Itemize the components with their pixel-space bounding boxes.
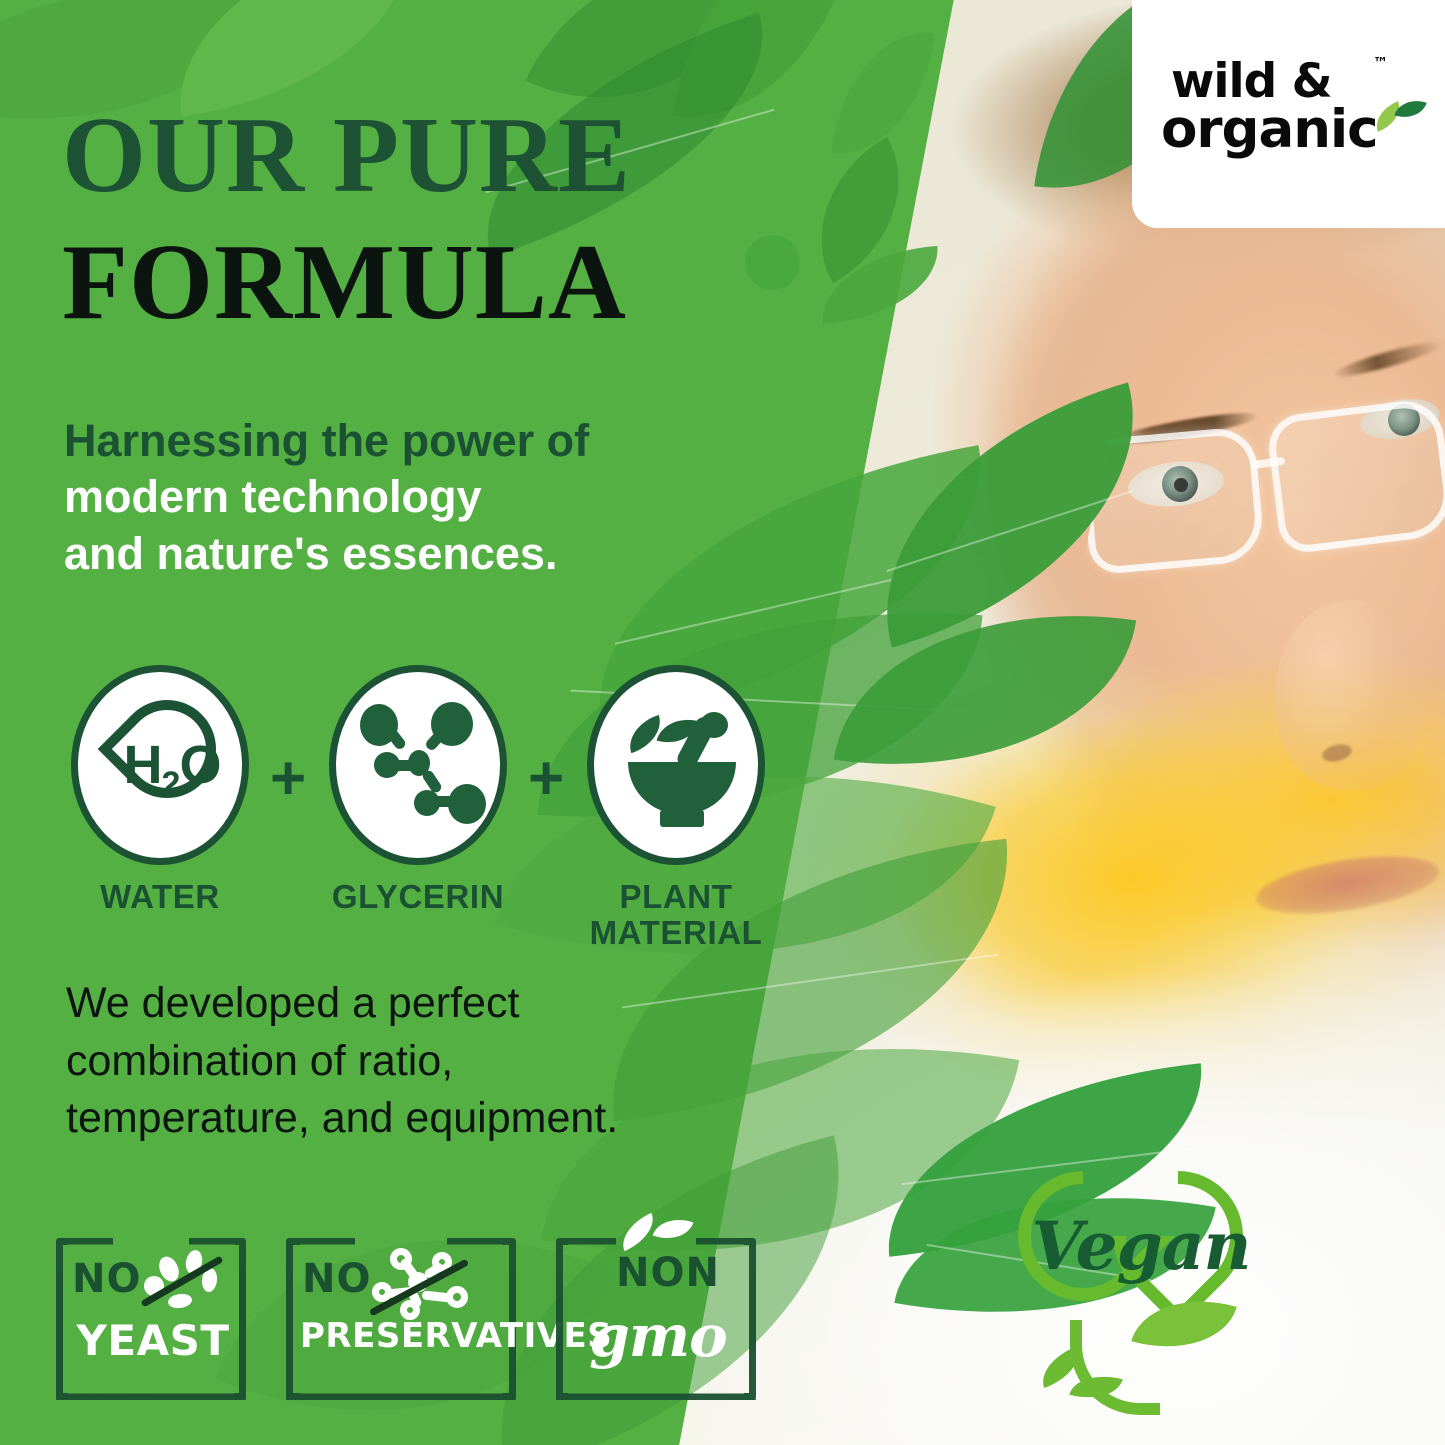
glycerin-molecule-icon: [329, 665, 507, 865]
ingredient-label-plant-material: PLANT MATERIAL: [586, 879, 766, 950]
logo-word-2: organic: [1161, 99, 1378, 160]
mortar-pestle-icon: [587, 665, 765, 865]
green-content-panel: OUR PURE FORMULA Harnessing the power of…: [0, 0, 900, 1445]
body-line-2: combination of ratio,: [66, 1033, 756, 1091]
mortar-bowl: [628, 762, 736, 814]
h2o-subscript: 2: [162, 765, 180, 803]
claim-badges-row: NO YEAST NO: [56, 1238, 776, 1408]
brand-logo-card: wild & ™ organic: [1132, 0, 1445, 228]
badge-top-label: NO: [72, 1256, 141, 1302]
h2o-formula-label: H2O: [102, 734, 242, 804]
plus-separator-1: +: [270, 743, 306, 814]
molecule-bond: [388, 760, 418, 771]
badge-top-label: NO: [302, 1256, 371, 1302]
badge-bottom-label: PRESERVATIVES: [300, 1316, 506, 1356]
product-infographic-poster: OUR PURE FORMULA Harnessing the power of…: [0, 0, 1445, 1445]
badge-top-label: NON: [616, 1250, 720, 1296]
vegan-label: Vegan: [1026, 1207, 1256, 1285]
ingredient-label-water: WATER: [70, 879, 250, 915]
subheadline: Harnessing the power of modern technolog…: [64, 413, 764, 582]
mortar-base: [660, 810, 704, 827]
ingredient-plant-material: PLANT MATERIAL: [586, 665, 766, 950]
badge-non-gmo: NON gmo: [556, 1238, 756, 1400]
ingredient-label-glycerin: GLYCERIN: [328, 879, 508, 915]
badge-no-yeast: NO YEAST: [56, 1238, 246, 1400]
label-material: MATERIAL: [590, 914, 763, 951]
label-plant: PLANT: [620, 878, 733, 915]
body-line-3: temperature, and equipment.: [66, 1090, 756, 1148]
molecule-bond: [426, 796, 454, 807]
leaf-right: [653, 1211, 694, 1247]
ingredient-glycerin: GLYCERIN: [328, 665, 508, 915]
trademark-symbol: ™: [1373, 54, 1388, 72]
subheadline-line-2: modern technology: [64, 469, 764, 525]
page-title: OUR PURE FORMULA: [62, 92, 822, 347]
h2o-h: H: [124, 735, 162, 795]
headline-line-1: OUR PURE: [62, 92, 822, 219]
body-line-1: We developed a perfect: [66, 975, 756, 1033]
water-drop-h2o-icon: H2O: [71, 665, 249, 865]
molecule-bond: [422, 1290, 453, 1302]
body-copy: We developed a perfect combination of ra…: [66, 975, 756, 1148]
leaf-dark-icon: [1394, 94, 1426, 123]
molecule-node: [448, 784, 486, 824]
subheadline-line-3: and nature's essences.: [64, 526, 764, 582]
plus-separator-2: +: [528, 743, 564, 814]
vegan-stem: [1070, 1320, 1160, 1415]
ingredient-water: H2O WATER: [70, 665, 250, 915]
headline-line-2: FORMULA: [62, 219, 822, 346]
yeast-cell: [167, 1292, 193, 1309]
badge-bottom-label: YEAST: [70, 1316, 236, 1365]
h2o-o: O: [179, 735, 220, 795]
wild-and-organic-logo: wild & ™ organic: [1161, 54, 1416, 174]
badge-bottom-label: gmo: [570, 1302, 746, 1370]
mortar-and-pestle-shape: [620, 712, 746, 832]
ingredient-row: H2O WATER +: [70, 665, 790, 955]
vegan-badge: Vegan: [1000, 1145, 1330, 1430]
badge-no-preservatives: NO PRESERVATIVES: [286, 1238, 516, 1400]
molecule-shape: [336, 672, 500, 858]
subheadline-line-1: Harnessing the power of: [64, 413, 764, 469]
